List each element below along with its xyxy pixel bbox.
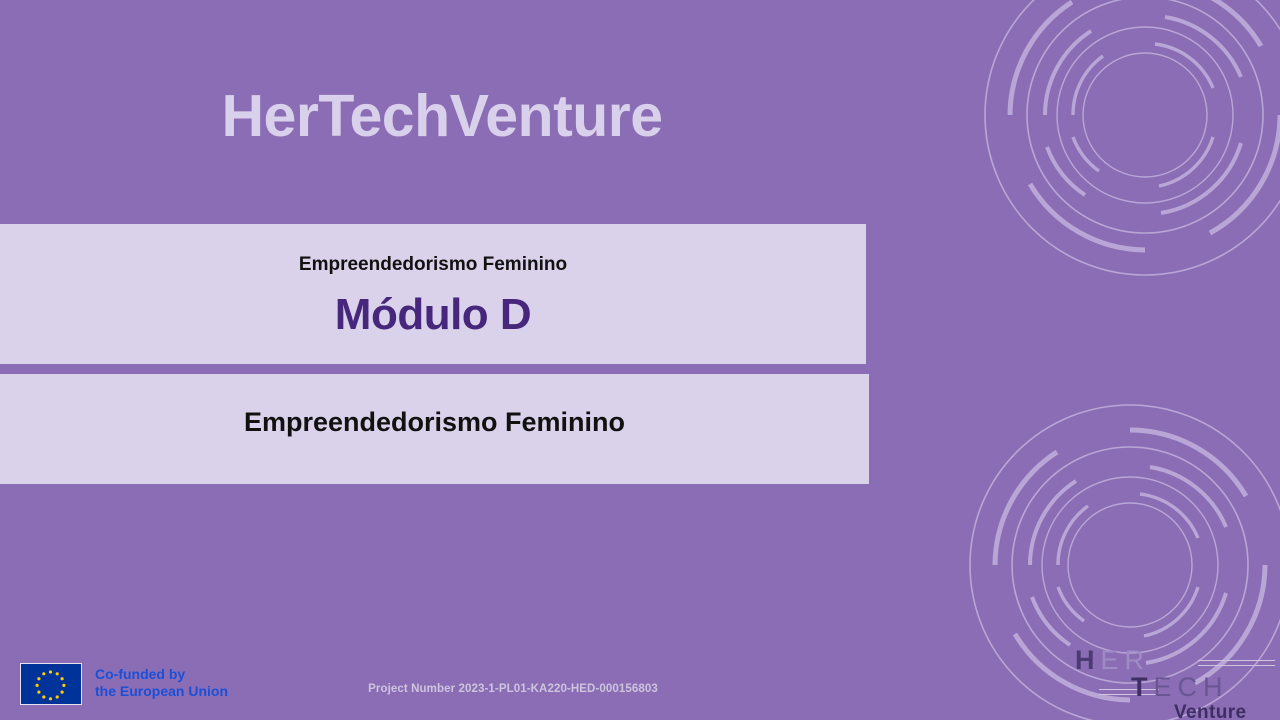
brand-venture: Venture — [1174, 702, 1247, 720]
subject-title-label: Empreendedorismo Feminino — [0, 407, 869, 438]
decorative-circles-top — [975, 0, 1280, 285]
eu-funding-line-1: Co-funded by — [95, 666, 228, 683]
brand-her-rest: ER — [1101, 645, 1151, 675]
brand-her-bold: H — [1075, 645, 1101, 675]
brand-tech-rest: ECH — [1154, 672, 1229, 702]
subject-panel: Empreendedorismo Feminino — [0, 374, 869, 484]
brand-mark-hertechventure: HER TECH Venture — [1075, 645, 1280, 715]
module-kicker-label: Empreendedorismo Feminino — [0, 254, 866, 276]
eu-funding-line-2: the European Union — [95, 683, 228, 700]
partner-logo-strip: Perspektywy Perspektywy Education Founda… — [0, 528, 980, 638]
brand-tech-bold: T — [1131, 672, 1154, 702]
slide-canvas: HerTechVenture Empreendedorismo Feminino… — [0, 0, 1280, 720]
module-title-label: Módulo D — [0, 290, 866, 340]
page-title: HerTechVenture — [0, 86, 884, 148]
eu-funding-text: Co-funded by the European Union — [95, 666, 228, 701]
project-number-label: Project Number 2023-1-PL01-KA220-HED-000… — [348, 680, 678, 698]
brand-tech: TECH — [1131, 672, 1229, 703]
module-panel: Empreendedorismo Feminino Módulo D — [0, 224, 866, 364]
eu-flag-icon — [20, 663, 82, 705]
eu-funding-block: Co-funded by the European Union — [20, 663, 280, 705]
brand-rule-top — [1198, 660, 1275, 666]
